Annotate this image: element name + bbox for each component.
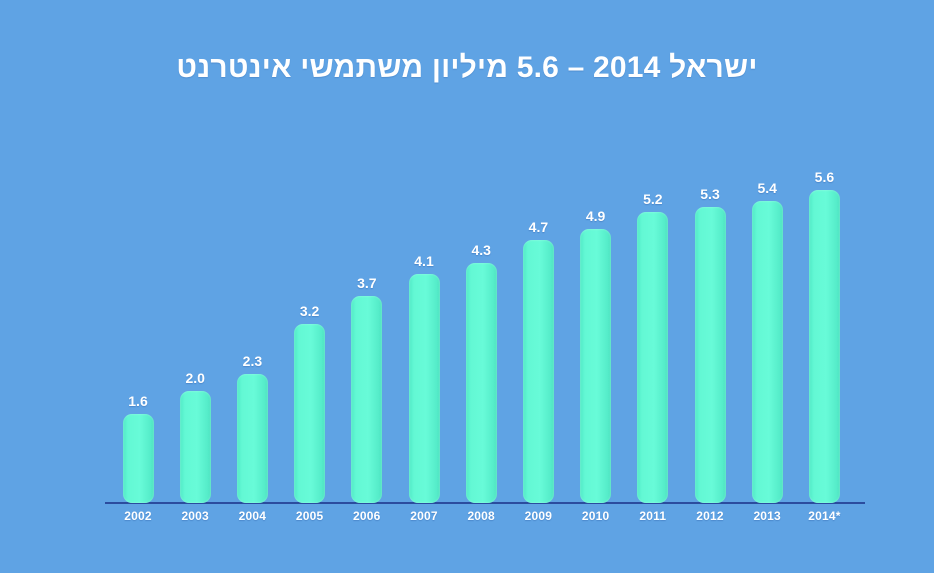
bar-group: 5.22011 bbox=[631, 150, 675, 503]
x-axis-tick-label: 2002 bbox=[106, 509, 170, 523]
bar[interactable] bbox=[809, 190, 840, 503]
bar-value-label: 5.6 bbox=[794, 169, 854, 185]
bar[interactable] bbox=[580, 229, 611, 503]
x-axis-tick-label: 2010 bbox=[564, 509, 628, 523]
bar-value-label: 2.3 bbox=[222, 353, 282, 369]
bar[interactable] bbox=[466, 263, 497, 503]
bar[interactable] bbox=[294, 324, 325, 503]
x-axis-tick-label: 2005 bbox=[278, 509, 342, 523]
bar-chart-plot-area: 1.620022.020032.320043.220053.720064.120… bbox=[105, 150, 865, 503]
bar-value-label: 4.9 bbox=[566, 208, 626, 224]
bar-group: 5.42013 bbox=[745, 150, 789, 503]
bar-value-label: 3.7 bbox=[337, 275, 397, 291]
bar-value-label: 4.7 bbox=[508, 219, 568, 235]
bar-group: 3.22005 bbox=[288, 150, 332, 503]
bar-group: 1.62002 bbox=[116, 150, 160, 503]
bar-group: 2.02003 bbox=[173, 150, 217, 503]
x-axis-tick-label: 2004 bbox=[220, 509, 284, 523]
bar-group: 4.72009 bbox=[516, 150, 560, 503]
bar-value-label: 5.4 bbox=[737, 180, 797, 196]
bar-group: 2.32004 bbox=[230, 150, 274, 503]
bar-group: 3.72006 bbox=[345, 150, 389, 503]
x-axis-tick-label: 2008 bbox=[449, 509, 513, 523]
bar[interactable] bbox=[695, 207, 726, 503]
x-axis-tick-label: 2007 bbox=[392, 509, 456, 523]
bar-group: 4.12007 bbox=[402, 150, 446, 503]
bar[interactable] bbox=[637, 212, 668, 503]
chart-slide: ישראל 2014 – 5.6 מיליון משתמשי אינטרנט 1… bbox=[0, 0, 934, 573]
x-axis-tick-label: 2011 bbox=[621, 509, 685, 523]
x-axis-tick-label: 2006 bbox=[335, 509, 399, 523]
x-axis-tick-label: 2003 bbox=[163, 509, 227, 523]
bar-group: 4.32008 bbox=[459, 150, 503, 503]
bar-value-label: 3.2 bbox=[280, 303, 340, 319]
bar-value-label: 2.0 bbox=[165, 370, 225, 386]
bar[interactable] bbox=[409, 274, 440, 503]
bar[interactable] bbox=[752, 201, 783, 503]
bar-group: 5.62014* bbox=[802, 150, 846, 503]
page-title: ישראל 2014 – 5.6 מיליון משתמשי אינטרנט bbox=[0, 49, 934, 87]
bar-value-label: 1.6 bbox=[108, 393, 168, 409]
bar[interactable] bbox=[180, 391, 211, 503]
bar-value-label: 5.2 bbox=[623, 191, 683, 207]
x-axis-tick-label: 2013 bbox=[735, 509, 799, 523]
x-axis-tick-label: 2014* bbox=[792, 509, 856, 523]
x-axis-tick-label: 2009 bbox=[506, 509, 570, 523]
bar-group: 4.92010 bbox=[574, 150, 618, 503]
bar-value-label: 4.3 bbox=[451, 242, 511, 258]
bar-value-label: 5.3 bbox=[680, 186, 740, 202]
bar-value-label: 4.1 bbox=[394, 253, 454, 269]
bar[interactable] bbox=[523, 240, 554, 503]
bar[interactable] bbox=[123, 414, 154, 503]
bar[interactable] bbox=[237, 374, 268, 503]
bar[interactable] bbox=[351, 296, 382, 503]
bar-group: 5.32012 bbox=[688, 150, 732, 503]
x-axis-tick-label: 2012 bbox=[678, 509, 742, 523]
